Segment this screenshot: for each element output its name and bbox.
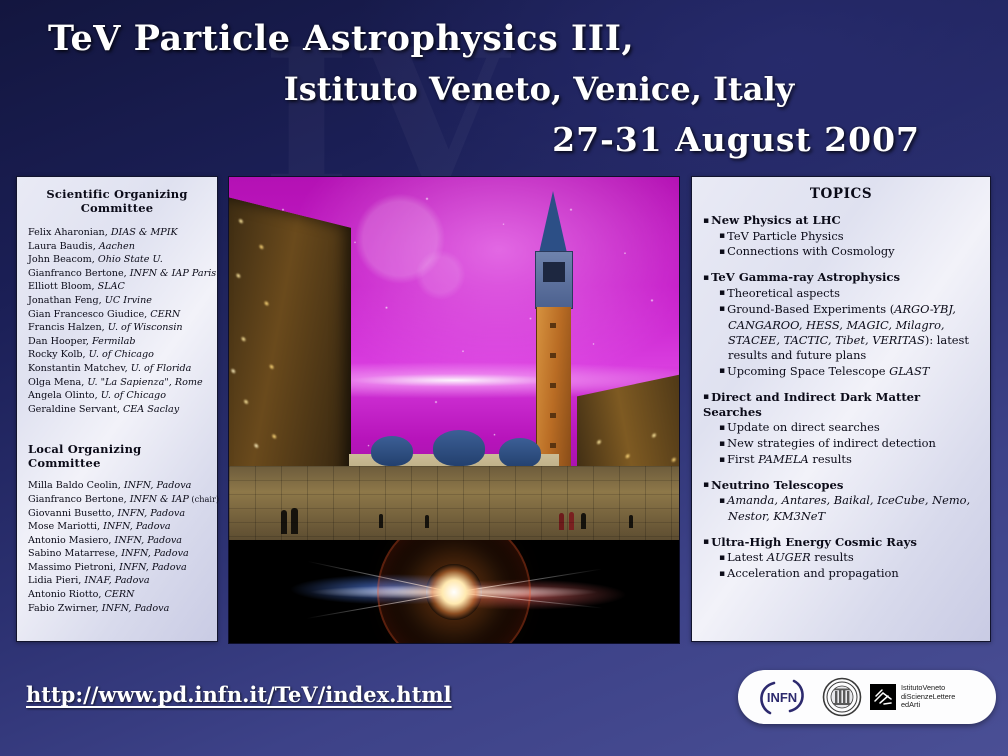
poster-header: TeV Particle Astrophysics III, Istituto … — [0, 0, 1008, 159]
topic-group: ▪Neutrino Telescopes▪Amanda, Antares, Ba… — [702, 478, 980, 525]
infn-logo: INFN — [750, 677, 814, 717]
member-affiliation: INFN, Padova — [102, 603, 170, 614]
member-affiliation: U. of Wisconsin — [108, 322, 183, 333]
member-name: Giovanni Busetto, — [28, 508, 118, 519]
committee-member: Antonio Riotto, CERN — [28, 588, 208, 602]
member-affiliation: INFN & IAP Paris — [130, 268, 216, 279]
member-name: Elliott Bloom, — [28, 281, 98, 292]
person-figure — [629, 515, 633, 528]
person-figure — [379, 514, 383, 528]
member-affiliation: CERN — [104, 589, 134, 600]
member-name: Rocky Kolb, — [28, 349, 89, 360]
member-name: Gian Francesco Giudice, — [28, 309, 150, 320]
member-name: Angela Olinto, — [28, 390, 101, 401]
member-affiliation: INFN, Padova — [103, 521, 171, 532]
member-name: Konstantin Matchev, — [28, 363, 131, 374]
square-bullet-icon: ▪ — [719, 231, 725, 241]
topic-subitem: ▪New strategies of indirect detection — [728, 436, 980, 452]
square-bullet-icon: ▪ — [719, 304, 725, 314]
topic-group: ▪Direct and Indirect Dark Matter Searche… — [702, 390, 980, 468]
topic-subitem: ▪Latest AUGER results — [728, 550, 980, 566]
topic-heading: ▪TeV Gamma-ray Astrophysics — [703, 270, 980, 286]
topic-heading: ▪Direct and Indirect Dark Matter Searche… — [703, 390, 980, 421]
committee-member: Olga Mena, U. "La Sapienza", Rome — [28, 376, 208, 390]
campanile-spire — [539, 191, 567, 253]
committee-member: Gianfranco Bertone, INFN & IAP (chair) — [28, 493, 208, 507]
member-name: Sabino Matarrese, — [28, 548, 121, 559]
member-name: Massimo Pietroni, — [28, 562, 119, 573]
topic-heading-label: TeV Gamma-ray Astrophysics — [711, 270, 900, 284]
member-name: Dan Hooper, — [28, 336, 92, 347]
topic-heading-label: Neutrino Telescopes — [711, 478, 843, 492]
member-affiliation: INFN, Padova — [119, 562, 187, 573]
conference-poster: IV TeV Particle Astrophysics III, Istitu… — [0, 0, 1008, 756]
collision-core — [426, 564, 482, 620]
committee-member: Massimo Pietroni, INFN, Padova — [28, 561, 208, 575]
istituto-veneto-logo: IstitutoVeneto diScienzeLettere edArti — [870, 684, 955, 710]
person-figure — [581, 513, 586, 529]
square-bullet-icon: ▪ — [703, 273, 709, 283]
committee-member: Fabio Zwirner, INFN, Padova — [28, 602, 208, 616]
person-figure — [569, 512, 574, 530]
topic-heading-label: New Physics at LHC — [711, 213, 841, 227]
title-line-1: TeV Particle Astrophysics III, — [40, 18, 968, 59]
member-name: Gianfranco Bertone, — [28, 494, 130, 505]
person-figure — [425, 515, 429, 528]
campanile-belfry — [535, 251, 573, 309]
member-name: John Beacom, — [28, 254, 98, 265]
basilica-dome-center — [433, 430, 485, 466]
member-affiliation: Fermilab — [92, 336, 136, 347]
member-name: Fabio Zwirner, — [28, 603, 102, 614]
svg-text:INFN: INFN — [767, 690, 797, 705]
committee-member: Dan Hooper, Fermilab — [28, 335, 208, 349]
title-line-2: Istituto Veneto, Venice, Italy — [40, 70, 968, 108]
topic-heading: ▪New Physics at LHC — [703, 213, 980, 229]
piazza-pavement — [229, 466, 679, 541]
square-bullet-icon: ▪ — [719, 569, 725, 579]
member-name: Antonio Riotto, — [28, 589, 104, 600]
member-affiliation: INAF, Padova — [84, 575, 149, 586]
member-affiliation: CEA Saclay — [123, 404, 179, 415]
committee-member: Angela Olinto, U. of Chicago — [28, 389, 208, 403]
topic-subitem-text: Connections with Cosmology — [727, 244, 894, 258]
committee-member: Gian Francesco Giudice, CERN — [28, 308, 208, 322]
square-bullet-icon: ▪ — [719, 455, 725, 465]
member-affiliation: U. "La Sapienza", Rome — [87, 377, 202, 388]
member-affiliation: Ohio State U. — [98, 254, 163, 265]
member-affiliation: SLAC — [98, 281, 125, 292]
committee-member: Giovanni Busetto, INFN, Padova — [28, 507, 208, 521]
topic-subitem-emphasis: Amanda, Antares, Baikal, IceCube, Nemo, … — [727, 493, 970, 523]
member-name: Mose Mariotti, — [28, 521, 103, 532]
square-bullet-icon: ▪ — [719, 553, 725, 563]
particle-collision-event-display — [229, 540, 679, 643]
topic-subitem-emphasis: GLAST — [889, 364, 929, 378]
committee-member: Konstantin Matchev, U. of Florida — [28, 362, 208, 376]
person-figure — [281, 510, 287, 534]
basilica-dome-right — [499, 438, 541, 468]
committee-member: Mose Mariotti, INFN, Padova — [28, 520, 208, 534]
topic-subitem-text: Latest — [727, 550, 767, 564]
member-affiliation: INFN, Padova — [118, 508, 186, 519]
topic-subitem-emphasis: PAMELA — [758, 452, 809, 466]
square-bullet-icon: ▪ — [703, 537, 709, 547]
committee-member: Jonathan Feng, UC Irvine — [28, 294, 208, 308]
topic-subitem-text: Ground-Based Experiments ( — [727, 302, 894, 316]
topics-list: ▪New Physics at LHC▪TeV Particle Physics… — [702, 213, 980, 582]
square-bullet-icon: ▪ — [703, 392, 709, 402]
topic-heading-label: Ultra-High Energy Cosmic Rays — [711, 535, 917, 549]
square-bullet-icon: ▪ — [719, 288, 725, 298]
committee-member: Geraldine Servant, CEA Saclay — [28, 403, 208, 417]
topics-title: TOPICS — [702, 186, 980, 202]
square-bullet-icon: ▪ — [719, 247, 725, 257]
member-name: Laura Baudis, — [28, 241, 99, 252]
square-bullet-icon: ▪ — [719, 439, 725, 449]
member-name: Jonathan Feng, — [28, 295, 105, 306]
topic-heading: ▪Ultra-High Energy Cosmic Rays — [703, 535, 980, 551]
topic-subitem: ▪Acceleration and propagation — [728, 566, 980, 582]
loc-member-list: Milla Baldo Ceolin, INFN, PadovaGianfran… — [26, 479, 208, 615]
person-figure — [559, 513, 564, 530]
panel-spacer — [26, 416, 208, 442]
istituto-veneto-text: IstitutoVeneto diScienzeLettere edArti — [901, 684, 955, 710]
topics-panel: TOPICS ▪New Physics at LHC▪TeV Particle … — [691, 176, 991, 642]
topic-subitem-text: First — [727, 452, 758, 466]
member-name: Olga Mena, — [28, 377, 87, 388]
topic-subitem-text: Upcoming Space Telescope — [727, 364, 889, 378]
topic-subitem-text-tail: results — [809, 452, 852, 466]
topic-subitem: ▪Ground-Based Experiments (ARGO-YBJ, CAN… — [728, 302, 980, 364]
committee-member: Felix Aharonian, DIAS & MPIK — [28, 226, 208, 240]
committee-member: Lidia Pieri, INAF, Padova — [28, 574, 208, 588]
member-affiliation: U. of Chicago — [101, 390, 166, 401]
topic-subitem-emphasis: AUGER — [767, 550, 811, 564]
topic-subitem-text: Update on direct searches — [727, 420, 880, 434]
topic-subitem-text: Theoretical aspects — [727, 286, 840, 300]
member-note: (chair) — [189, 494, 219, 504]
square-bullet-icon: ▪ — [719, 423, 725, 433]
topic-group: ▪Ultra-High Energy Cosmic Rays▪Latest AU… — [702, 535, 980, 582]
loc-heading: Local Organizing Committee — [28, 442, 208, 470]
member-name: Antonio Masiero, — [28, 535, 114, 546]
soc-heading: Scientific Organizing Committee — [26, 187, 208, 215]
committee-member: Sabino Matarrese, INFN, Padova — [28, 547, 208, 561]
topic-group: ▪TeV Gamma-ray Astrophysics▪Theoretical … — [702, 270, 980, 379]
square-bullet-icon: ▪ — [719, 496, 725, 506]
topic-subitem: ▪Upcoming Space Telescope GLAST — [728, 364, 980, 380]
square-bullet-icon: ▪ — [703, 216, 709, 226]
conference-website-link[interactable]: http://www.pd.infn.it/TeV/index.html — [26, 682, 452, 707]
committees-panel: Scientific Organizing Committee Felix Ah… — [16, 176, 218, 642]
committee-member: Elliott Bloom, SLAC — [28, 280, 208, 294]
topic-subitem: ▪Amanda, Antares, Baikal, IceCube, Nemo,… — [728, 493, 980, 524]
member-affiliation: CERN — [150, 309, 180, 320]
topic-subitem: ▪TeV Particle Physics — [728, 229, 980, 245]
member-affiliation: INFN, Padova — [114, 535, 182, 546]
committee-member: John Beacom, Ohio State U. — [28, 253, 208, 267]
topic-subitem: ▪Theoretical aspects — [728, 286, 980, 302]
topic-subitem-text: Acceleration and propagation — [727, 566, 899, 580]
basilica-dome-left — [371, 436, 413, 466]
topic-group: ▪New Physics at LHC▪TeV Particle Physics… — [702, 213, 980, 260]
committee-member: Milla Baldo Ceolin, INFN, Padova — [28, 479, 208, 493]
member-name: Geraldine Servant, — [28, 404, 123, 415]
member-affiliation: INFN & IAP — [130, 494, 189, 505]
topic-heading: ▪Neutrino Telescopes — [703, 478, 980, 494]
sponsor-logo-bar: INFN — [738, 670, 996, 724]
member-affiliation: INFN, Padova — [121, 548, 189, 559]
topic-subitem: ▪Update on direct searches — [728, 420, 980, 436]
topic-subitem-text: TeV Particle Physics — [727, 229, 843, 243]
venice-photo — [228, 176, 680, 644]
istituto-veneto-mark — [870, 684, 896, 710]
iv-line-3: edArti — [901, 701, 955, 710]
square-bullet-icon: ▪ — [719, 366, 725, 376]
topic-subitem-text: New strategies of indirect detection — [727, 436, 936, 450]
committee-member: Gianfranco Bertone, INFN & IAP Paris — [28, 267, 208, 281]
square-bullet-icon: ▪ — [703, 480, 709, 490]
committee-member: Francis Halzen, U. of Wisconsin — [28, 321, 208, 335]
topic-subitem: ▪Connections with Cosmology — [728, 244, 980, 260]
member-affiliation: U. of Chicago — [89, 349, 154, 360]
topic-subitem: ▪First PAMELA results — [728, 452, 980, 468]
member-name: Francis Halzen, — [28, 322, 108, 333]
member-name: Milla Baldo Ceolin, — [28, 480, 124, 491]
topic-subitem-text-tail: results — [811, 550, 854, 564]
university-of-padova-seal — [822, 677, 862, 717]
person-figure — [291, 508, 298, 534]
soc-member-list: Felix Aharonian, DIAS & MPIKLaura Baudis… — [26, 226, 208, 416]
member-affiliation: U. of Florida — [131, 363, 192, 374]
member-affiliation: DIAS & MPIK — [111, 227, 178, 238]
committee-member: Laura Baudis, Aachen — [28, 240, 208, 254]
member-affiliation: Aachen — [99, 241, 135, 252]
member-name: Gianfranco Bertone, — [28, 268, 130, 279]
member-name: Lidia Pieri, — [28, 575, 84, 586]
topic-heading-label: Direct and Indirect Dark Matter Searches — [703, 390, 920, 420]
member-affiliation: INFN, Padova — [124, 480, 192, 491]
member-name: Felix Aharonian, — [28, 227, 111, 238]
committee-member: Rocky Kolb, U. of Chicago — [28, 348, 208, 362]
committee-member: Antonio Masiero, INFN, Padova — [28, 534, 208, 548]
member-affiliation: UC Irvine — [105, 295, 152, 306]
title-line-3-dates: 27-31 August 2007 — [40, 120, 968, 159]
